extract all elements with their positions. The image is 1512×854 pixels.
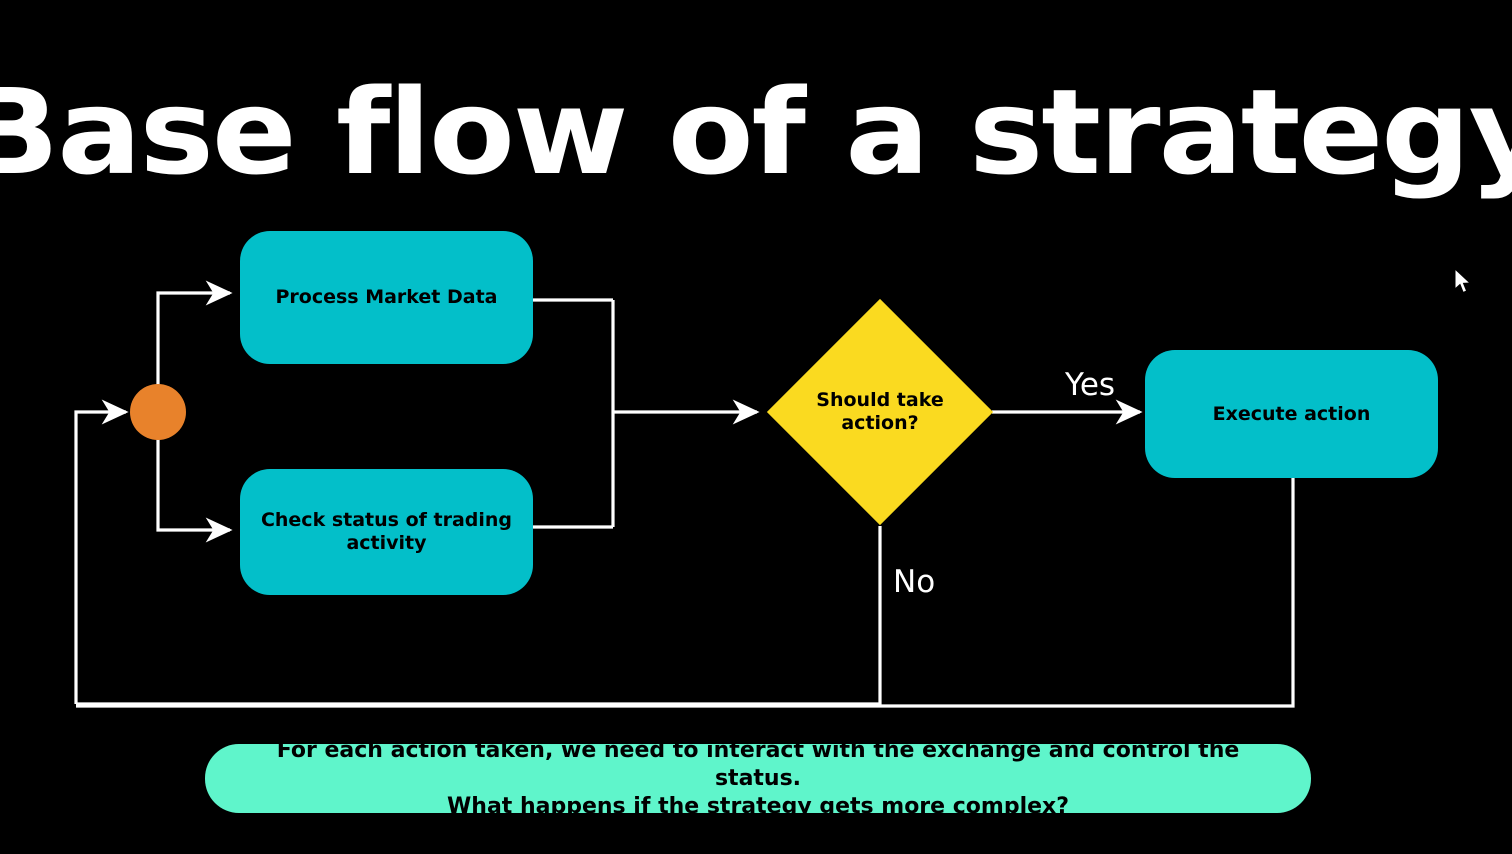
edge-label-no: No bbox=[893, 565, 935, 599]
node-check-status[interactable]: Check status of trading activity bbox=[240, 469, 533, 595]
edge-label-yes: Yes bbox=[1065, 368, 1115, 402]
node-label: Should take action? bbox=[800, 332, 960, 492]
node-should-take-action[interactable]: Should take action? bbox=[800, 332, 960, 492]
slide-canvas: Base flow of a strategy bbox=[0, 0, 1512, 854]
node-label: Check status of trading activity bbox=[258, 509, 515, 555]
node-label: Execute action bbox=[1213, 403, 1371, 426]
caption-banner: For each action taken, we need to intera… bbox=[205, 744, 1311, 813]
node-execute-action[interactable]: Execute action bbox=[1145, 350, 1438, 478]
caption-line-2: What happens if the strategy gets more c… bbox=[231, 793, 1285, 821]
start-node[interactable] bbox=[130, 384, 186, 440]
node-process-market-data[interactable]: Process Market Data bbox=[240, 231, 533, 364]
wire-return-to-start bbox=[76, 412, 126, 704]
caption-line-1: For each action taken, we need to intera… bbox=[231, 737, 1285, 793]
node-label: Process Market Data bbox=[275, 286, 497, 309]
